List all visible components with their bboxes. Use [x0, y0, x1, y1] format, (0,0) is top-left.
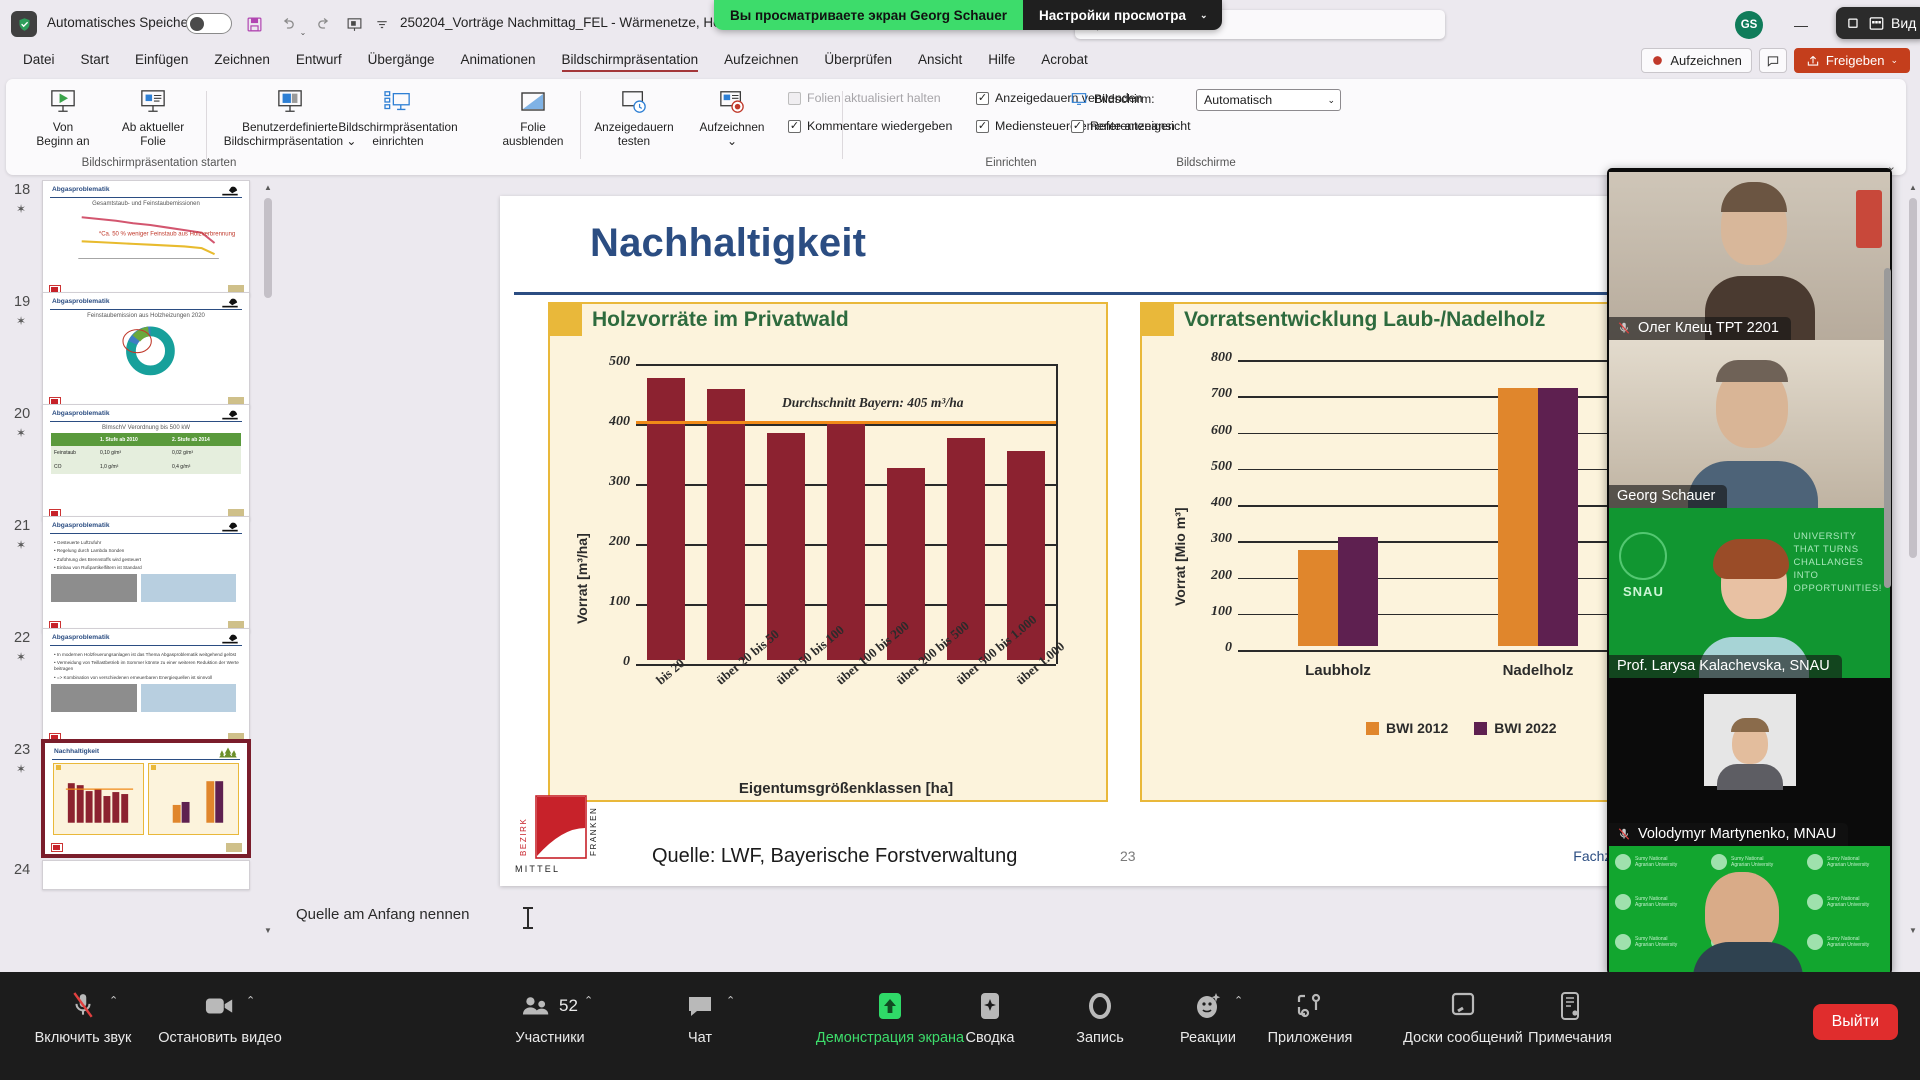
- zoom-toolbar-summary[interactable]: Сводка: [930, 986, 1050, 1046]
- tab-datei[interactable]: Datei: [10, 48, 68, 72]
- bar: [1298, 550, 1338, 646]
- btn-label-l2: ausblenden: [502, 134, 563, 148]
- video-tile[interactable]: SNAUUNIVERSITYTHAT TURNSCHALLANGESINTOOP…: [1609, 508, 1890, 678]
- minimize-button[interactable]: —: [1780, 12, 1822, 38]
- tab--berpr-fen[interactable]: Überprüfen: [811, 48, 905, 72]
- autosave-shield-icon: [11, 11, 37, 37]
- zoom-view-button[interactable]: Вид: [1836, 7, 1920, 39]
- slide-page-number: 23: [1120, 848, 1136, 864]
- thumbnail-scrollbar[interactable]: ▲ ▼: [261, 180, 275, 937]
- thumbnail-slide-21[interactable]: Abgasproblematik• Gesteuerte Luftzufuhr•…: [42, 516, 250, 633]
- thumbnail-logo: [51, 843, 63, 852]
- y-tick-label: 600: [1190, 423, 1232, 439]
- thumbnail-body: • In modernen Holzfeuerungsanlagen ist d…: [51, 649, 241, 734]
- bar: [1498, 388, 1538, 646]
- undo-chevron-icon[interactable]: ⌄: [298, 20, 308, 44]
- from-current-slide-icon: [110, 85, 196, 119]
- thumbnail-rule: [50, 197, 242, 198]
- btn-label-l1: Folie: [520, 120, 546, 134]
- svg-text:*Ca. 50 % weniger Feinstaub au: *Ca. 50 % weniger Feinstaub aus Holzverb…: [99, 231, 235, 237]
- monitor-select[interactable]: Automatisch ⌄: [1196, 89, 1341, 111]
- virtual-bg-text: UNIVERSITYTHAT TURNSCHALLANGESINTOOPPORT…: [1794, 530, 1882, 595]
- average-annotation: Durchschnitt Bayern: 405 m³/ha: [782, 395, 963, 411]
- notes-icon: [1558, 986, 1582, 1026]
- chimney-smoke-icon: [219, 632, 241, 643]
- ribbon: Von Beginn an Ab aktueller Folie Benutze…: [6, 79, 1906, 175]
- setup-slideshow-icon: [312, 85, 484, 119]
- bar: [767, 433, 804, 660]
- slide-source-text: Quelle: LWF, Bayerische Forstverwaltung: [652, 845, 1017, 868]
- autosave-toggle[interactable]: [186, 13, 232, 34]
- y-tick-label: 0: [590, 654, 630, 670]
- checkbox-label: Folien aktualisiert halten: [807, 91, 941, 105]
- checkbox-label: Referentenansicht: [1090, 119, 1191, 133]
- btn-label-l2: Beginn an: [36, 134, 89, 148]
- animation-star-icon: ✶: [16, 426, 26, 440]
- gridline: [1238, 396, 1638, 398]
- chat-icon: [687, 986, 713, 1026]
- btn-bildschirmpraesentation-einrichten[interactable]: Bildschirmpräsentation einrichten: [312, 85, 484, 148]
- thumbnail-bullet: • Zuführung des Brennstoffs wird gesteue…: [54, 557, 241, 563]
- zoom-toolbar-label: Запись: [1076, 1030, 1124, 1046]
- x-tick-label: bis 20: [653, 655, 688, 688]
- monitor-select-value: Automatisch: [1204, 93, 1272, 107]
- tab-label: Hilfe: [988, 52, 1015, 67]
- record-button-label: Aufzeichnen: [1670, 53, 1742, 68]
- legend-label: BWI 2022: [1494, 720, 1556, 736]
- chevron-up-icon[interactable]: ⌃: [109, 994, 118, 1007]
- tab-label: Zeichnen: [214, 52, 270, 67]
- ribbon-tab-bar: DateiStartEinfügenZeichnenEntwurfÜbergän…: [0, 48, 1920, 77]
- thumbnail-subtitle: BImschV Verordnung bis 500 kW: [51, 425, 241, 431]
- y-tick-label: 100: [590, 594, 630, 610]
- checkbox-box: [788, 120, 801, 133]
- gridline: [1238, 505, 1638, 507]
- bezirk-mittelfranken-logo: BEZIRK FRANKEN MITTEL: [514, 794, 616, 878]
- thumbnail-bullet: • Vermeidung von Teillastbetrieb im Somm…: [54, 660, 241, 672]
- y-tick-label: 0: [1190, 640, 1232, 656]
- animation-star-icon: ✶: [16, 314, 26, 328]
- zoom-toolbar-label: Реакции: [1180, 1030, 1236, 1046]
- video-tile[interactable]: Олег Клещ ТРТ 2201: [1609, 172, 1890, 340]
- thumbnail-body: • Gesteuerte Luftzufuhr• Regelung durch …: [51, 537, 241, 622]
- scroll-thumb[interactable]: [1884, 268, 1891, 588]
- zoom-toolbar-unmute[interactable]: Включить звук: [8, 986, 158, 1046]
- thumbnail-footer-image: [226, 843, 242, 852]
- tab-ansicht[interactable]: Ansicht: [905, 48, 975, 72]
- tab-label: Acrobat: [1041, 52, 1088, 67]
- y-tick-label: 300: [590, 474, 630, 490]
- y-tick-label: 400: [590, 414, 630, 430]
- btn-label-l1: Anzeigedauern: [594, 120, 673, 134]
- thumbnail-slide-18[interactable]: AbgasproblematikGesamtstaub- und Feinsta…: [42, 180, 250, 297]
- tab-zeichnen[interactable]: Zeichnen: [201, 48, 283, 72]
- chevron-down-icon: ⌄: [1200, 10, 1208, 21]
- grid-view-icon: [1869, 16, 1884, 31]
- chevron-up-icon[interactable]: ⌃: [246, 994, 255, 1007]
- avatar[interactable]: GS: [1735, 11, 1763, 39]
- gridline: [1238, 433, 1638, 435]
- zoom-toolbar-notes[interactable]: Примечания: [1510, 986, 1630, 1046]
- thumbnail-body: [53, 763, 239, 844]
- thumbnail-rule: [52, 759, 240, 760]
- zoom-toolbar-label: Примечания: [1528, 1030, 1612, 1046]
- btn-label-l1: Ab aktueller: [122, 120, 184, 134]
- save-icon[interactable]: [242, 12, 266, 36]
- btn-label-l1: Bildschirmpräsentation: [338, 120, 457, 134]
- view-settings-button[interactable]: Настройки просмотра ⌄: [1023, 0, 1222, 30]
- thumbnail-title: Abgasproblematik: [52, 410, 110, 417]
- ribbon-group-monitors: Bildschirm: Automatisch ⌄ Referentenansi…: [1061, 83, 1351, 171]
- trees-icon: [217, 746, 239, 757]
- chimney-smoke-icon: [219, 184, 241, 195]
- chevron-up-icon[interactable]: ⌃: [584, 994, 593, 1007]
- text-cursor: [527, 907, 529, 929]
- redo-icon[interactable]: [312, 12, 336, 36]
- chimney-smoke-icon: [219, 296, 241, 307]
- thumbnail-number: 24: [14, 862, 30, 878]
- checkbox-folien-aktualisiert-halten[interactable]: Folien aktualisiert halten: [788, 91, 941, 105]
- tab-label: Entwurf: [296, 52, 342, 67]
- scroll-down-icon[interactable]: ▼: [1906, 923, 1920, 937]
- participant-name-badge: Georg Schauer: [1609, 485, 1727, 508]
- share-screen-icon: [877, 986, 903, 1026]
- ribbon-group-start-slideshow: Von Beginn an Ab aktueller Folie Benutze…: [14, 83, 304, 171]
- zoom-toolbar-label: Включить звук: [35, 1030, 132, 1046]
- group-label-monitors: Bildschirme: [1061, 157, 1351, 169]
- checkbox-box: [976, 120, 989, 133]
- bar: [707, 389, 744, 660]
- monitor-icon: [1071, 91, 1087, 107]
- apps-icon: [1296, 986, 1324, 1026]
- tab-acrobat[interactable]: Acrobat: [1028, 48, 1101, 72]
- participant-name: Georg Schauer: [1617, 488, 1715, 504]
- thumbnail-slide-19[interactable]: AbgasproblematikFeinstaubemission aus Ho…: [42, 292, 250, 409]
- video-tile[interactable]: Sumy NationalAgrarian UniversitySumy Nat…: [1609, 846, 1890, 975]
- btn-ab-aktueller-folie[interactable]: Ab aktueller Folie: [110, 85, 196, 148]
- tab-label: Animationen: [460, 52, 535, 67]
- thumbnail-title: Abgasproblematik: [52, 634, 110, 641]
- thumbnail-table: BImschV Verordnung bis 500 kW1. Stufe ab…: [51, 425, 241, 510]
- thumbnail-body: Gesamtstaub- und Feinstaubemissionen*Ca.…: [51, 201, 241, 286]
- legend-item: BWI 2012: [1366, 720, 1448, 736]
- btn-folie-ausblenden[interactable]: Folie ausblenden: [490, 85, 576, 148]
- zoom-toolbar: Включить звук⌃Остановить видео⌃52Участни…: [0, 972, 1920, 1080]
- tab-label: Überprüfen: [824, 52, 892, 67]
- participant-name: Олег Клещ ТРТ 2201: [1638, 320, 1779, 336]
- thumbnail-rule: [50, 533, 242, 534]
- thumbnail-rule: [50, 421, 242, 422]
- btn-label-l2: Folie: [140, 134, 166, 148]
- btn-von-beginn-an[interactable]: Von Beginn an: [20, 85, 106, 148]
- zoom-toolbar-label: Участники: [515, 1030, 584, 1046]
- thumbnail-title: Abgasproblematik: [52, 522, 110, 529]
- record-icon: [1086, 986, 1114, 1026]
- btn-label-l1: Aufzeichnen: [700, 120, 765, 134]
- monitor-row: Bildschirm:: [1071, 91, 1155, 107]
- hide-slide-icon: [490, 85, 576, 119]
- thumbnail-slide-20[interactable]: AbgasproblematikBImschV Verordnung bis 5…: [42, 404, 250, 521]
- legend-swatch: [1366, 722, 1379, 735]
- btn-anzeigedauern-testen[interactable]: Anzeigedauern testen: [584, 85, 684, 148]
- screen-share-banner: Вы просматриваете экран Georg Schauer На…: [714, 0, 1222, 30]
- thumbnail-number: 23: [14, 742, 30, 758]
- thumbnail-number: 21: [14, 518, 30, 534]
- tab-hilfe[interactable]: Hilfe: [975, 48, 1028, 72]
- chevron-up-icon[interactable]: ⌃: [726, 994, 735, 1007]
- snau-logo-text: SNAU: [1623, 584, 1664, 599]
- summary-icon: [978, 986, 1002, 1026]
- scroll-down-icon[interactable]: ▼: [261, 923, 275, 937]
- mic-muted-icon: [1617, 321, 1631, 335]
- checkbox-referentenansicht[interactable]: Referentenansicht: [1071, 119, 1191, 133]
- participant-name: Volodymyr Martynenko, MNAU: [1638, 826, 1836, 842]
- thumbnail-body: Feinstaubemission aus Holzheizungen 2020: [51, 313, 241, 398]
- checkbox-label: Kommentare wiedergeben: [807, 119, 952, 133]
- share-status-text: Вы просматриваете экран Georg Schauer: [714, 0, 1023, 30]
- gridline: [636, 364, 1056, 366]
- zoom-toolbar-chat[interactable]: Чат: [640, 986, 760, 1046]
- chevron-down-icon: ⌄: [1327, 95, 1335, 106]
- leave-meeting-button[interactable]: Выйти: [1813, 1004, 1898, 1040]
- record-slideshow-icon: [686, 85, 778, 119]
- tab-label: Bildschirmpräsentation: [562, 52, 699, 67]
- y-tick-label: 800: [1190, 350, 1232, 366]
- participants-icon: 52: [522, 986, 578, 1026]
- video-tile[interactable]: Georg Schauer: [1609, 340, 1890, 508]
- slide-thumbnail-pane[interactable]: 18✶AbgasproblematikGesamtstaub- und Fein…: [0, 180, 278, 937]
- mic-muted-icon: [70, 986, 96, 1026]
- from-beginning-icon: [20, 85, 106, 119]
- video-strip-scrollbar[interactable]: [1884, 268, 1891, 788]
- video-tile[interactable]: Volodymyr Martynenko, MNAU: [1609, 678, 1890, 846]
- thumbnail-slide-23[interactable]: Nachhaltigkeit: [42, 740, 250, 857]
- tab-label: Ansicht: [918, 52, 962, 67]
- whiteboard-icon: [1450, 986, 1476, 1026]
- thumbnail-number: 18: [14, 182, 30, 198]
- quick-access-more-icon[interactable]: [370, 12, 394, 36]
- thumbnail-donut-chart: [51, 319, 241, 381]
- chart-panel-left: Holzvorräte im Privatwald 01002003004005…: [548, 302, 1108, 802]
- btn-aufzeichnen-ribbon[interactable]: Aufzeichnen ⌄: [686, 85, 778, 148]
- scroll-up-icon[interactable]: ▲: [1906, 180, 1920, 194]
- y-tick-label: 500: [590, 354, 630, 370]
- y-tick-label: 200: [590, 534, 630, 550]
- view-settings-label: Настройки просмотра: [1039, 8, 1186, 23]
- y-tick-label: 300: [1190, 531, 1232, 547]
- animation-star-icon: ✶: [16, 650, 26, 664]
- y-tick-label: 500: [1190, 459, 1232, 475]
- legend-label: BWI 2012: [1386, 720, 1448, 736]
- btn-label-l2: einrichten: [372, 134, 423, 148]
- thumbnail-number: 20: [14, 406, 30, 422]
- thumbnail-number: 22: [14, 630, 30, 646]
- rehearse-timings-icon: [584, 85, 684, 119]
- zoom-toolbar-stop-video[interactable]: Остановить видео: [140, 986, 300, 1046]
- chimney-smoke-icon: [219, 408, 241, 419]
- y-axis-title: Vorrat [Mio m³]: [1172, 507, 1188, 606]
- share-button[interactable]: Freigeben ⌄: [1794, 48, 1910, 73]
- mic-muted-icon: [1617, 827, 1631, 841]
- thumbnail-slide-22[interactable]: Abgasproblematik• In modernen Holzfeueru…: [42, 628, 250, 745]
- share-button-label: Freigeben: [1826, 53, 1885, 68]
- y-axis-title: Vorrat [m³/ha]: [574, 533, 590, 624]
- autosave-label: Automatisches Speichern: [47, 15, 200, 30]
- tab-bildschirmpr-sentation[interactable]: Bildschirmpräsentation: [549, 48, 712, 72]
- thumbnail-title: Abgasproblematik: [52, 186, 110, 193]
- y-tick-label: 100: [1190, 604, 1232, 620]
- zoom-toolbar-record[interactable]: Запись: [1040, 986, 1160, 1046]
- tab-aufzeichnen[interactable]: Aufzeichnen: [711, 48, 811, 72]
- start-presentation-icon[interactable]: [342, 12, 366, 36]
- tab-label: Übergänge: [368, 52, 435, 67]
- participant-name-badge: Олег Клещ ТРТ 2201: [1609, 317, 1791, 340]
- svg-text:BEZIRK: BEZIRK: [519, 818, 528, 857]
- gridline: [1238, 650, 1638, 652]
- participant-name: Prof. Larysa Kalachevska, SNAU: [1617, 658, 1830, 674]
- chevron-up-icon[interactable]: ⌃: [1234, 994, 1243, 1007]
- legend-swatch: [1474, 722, 1487, 735]
- reactions-icon: [1195, 986, 1221, 1026]
- chart-legend: BWI 2012BWI 2022: [1366, 720, 1557, 736]
- tab-start[interactable]: Start: [68, 48, 123, 72]
- x-tick-label: Laubholz: [1238, 662, 1438, 679]
- checkbox-box: [788, 92, 801, 105]
- thumbnail-bullet: • In modernen Holzfeuerungsanlagen ist d…: [54, 652, 241, 658]
- y-tick-label: 400: [1190, 495, 1232, 511]
- thumbnail-rule: [50, 309, 242, 310]
- tab-label: Einfügen: [135, 52, 188, 67]
- tab--berg-nge[interactable]: Übergänge: [355, 48, 448, 72]
- svg-text:FRANKEN: FRANKEN: [589, 807, 598, 856]
- tab-label: Datei: [23, 52, 55, 67]
- thumbnail-title: Abgasproblematik: [52, 298, 110, 305]
- x-axis-title: Eigentumsgrößenklassen [ha]: [636, 780, 1056, 797]
- thumbnail-bullet: • Gesteuerte Luftzufuhr: [54, 540, 241, 546]
- chevron-down-icon: ⌄: [1890, 55, 1898, 66]
- tab-animationen[interactable]: Animationen: [447, 48, 548, 72]
- participant-count: 52: [559, 996, 578, 1016]
- thumbnail-line-chart: *Ca. 50 % weniger Feinstaub aus Holzverb…: [51, 207, 241, 267]
- thumbnail-bullet: • Regelung durch Lambda Sonden: [54, 548, 241, 554]
- tab-entwurf[interactable]: Entwurf: [283, 48, 355, 72]
- thumbnail-title: Nachhaltigkeit: [54, 748, 99, 755]
- zoom-video-strip[interactable]: Олег Клещ ТРТ 2201Georg SchauerSNAUUNIVE…: [1607, 168, 1892, 975]
- group-label-start-slideshow: Bildschirmpräsentation starten: [14, 157, 304, 169]
- record-button[interactable]: Aufzeichnen: [1641, 48, 1752, 73]
- checkbox-kommentare-wiedergeben[interactable]: Kommentare wiedergeben: [788, 119, 952, 133]
- zoom-toolbar-label: Чат: [688, 1030, 712, 1046]
- svg-text:MITTEL: MITTEL: [515, 864, 560, 874]
- chimney-smoke-icon: [219, 520, 241, 531]
- tab-label: Aufzeichnen: [724, 52, 798, 67]
- thumbnail-charts: [53, 763, 239, 835]
- tab-label: Start: [81, 52, 110, 67]
- tab-einf-gen[interactable]: Einfügen: [122, 48, 201, 72]
- scroll-thumb[interactable]: [264, 198, 272, 298]
- slide-title: Nachhaltigkeit: [590, 221, 866, 266]
- thumbnail-bullet: • => Kombination von verschiedenen erneu…: [54, 675, 241, 681]
- scroll-thumb[interactable]: [1909, 198, 1917, 558]
- average-line: [636, 421, 1056, 424]
- monitor-label: Bildschirm:: [1094, 92, 1155, 106]
- y-tick-label: 200: [1190, 568, 1232, 584]
- participant-name-badge: Volodymyr Martynenko, MNAU: [1609, 823, 1848, 846]
- btn-label-l1: Von: [53, 120, 73, 134]
- view-pill-label: Вид: [1891, 15, 1916, 31]
- bar-chart-holzvorraete: 0100200300400500Durchschnitt Bayern: 405…: [550, 304, 1106, 800]
- notes-text: Quelle am Anfang nennen: [296, 906, 469, 923]
- undo-icon[interactable]: [275, 12, 299, 36]
- bar: [1338, 537, 1378, 646]
- checkbox-box: [1071, 120, 1084, 133]
- animation-star-icon: ✶: [16, 762, 26, 776]
- thumbnail-bullet: • Einbau von Rußpartikelfiltern ist Stan…: [54, 565, 241, 571]
- zoom-toolbar-label: Доски сообщений: [1403, 1030, 1523, 1046]
- bar: [1538, 388, 1578, 646]
- zoom-toolbar-label: Приложения: [1268, 1030, 1353, 1046]
- thumbnail-slide-24[interactable]: [42, 860, 250, 890]
- zoom-toolbar-apps[interactable]: Приложения: [1250, 986, 1370, 1046]
- comments-button[interactable]: [1759, 48, 1787, 73]
- y-tick-label: 700: [1190, 386, 1232, 402]
- checkbox-box: [976, 92, 989, 105]
- zoom-toolbar-label: Остановить видео: [158, 1030, 282, 1046]
- gridline: [1238, 469, 1638, 471]
- legend-item: BWI 2022: [1474, 720, 1556, 736]
- participant-name-badge: Prof. Larysa Kalachevska, SNAU: [1609, 655, 1842, 678]
- gridline: [1238, 360, 1638, 362]
- thumbnail-number: 19: [14, 294, 30, 310]
- animation-star-icon: ✶: [16, 202, 26, 216]
- btn-label-l2: ⌄: [727, 134, 737, 148]
- animation-star-icon: ✶: [16, 538, 26, 552]
- zoom-toolbar-label: Сводка: [966, 1030, 1015, 1046]
- slide-scrollbar[interactable]: ▲ ▼: [1906, 180, 1920, 937]
- thumbnail-rule: [50, 645, 242, 646]
- scroll-up-icon[interactable]: ▲: [261, 180, 275, 194]
- window-icon: [1847, 16, 1862, 31]
- video-icon: [205, 986, 235, 1026]
- btn-label-l2: testen: [618, 134, 650, 148]
- gridline: [1238, 541, 1638, 543]
